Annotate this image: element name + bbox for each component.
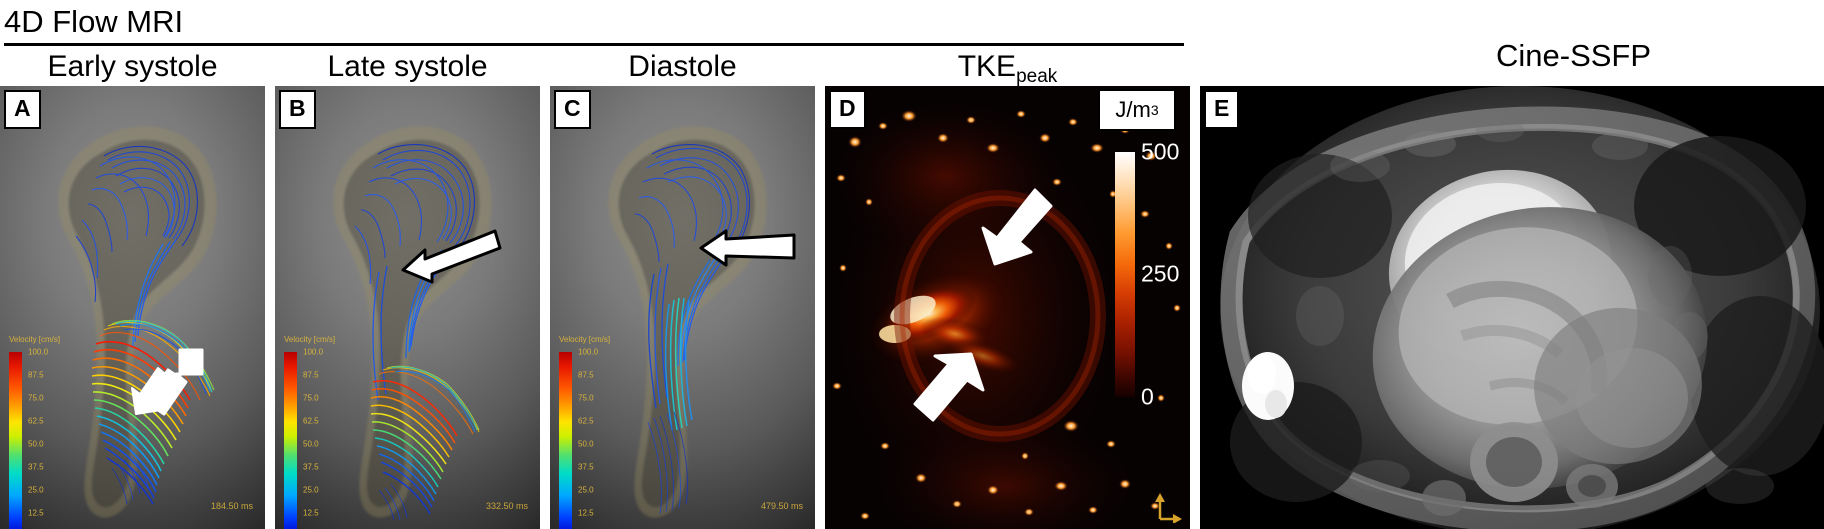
- panel-d-tke-peak[interactable]: J/m3 500 250 0 D: [825, 86, 1190, 529]
- panel-title-diastole-text: Diastole: [628, 50, 736, 83]
- panel-title-early-systole-text: Early systole: [47, 50, 217, 83]
- panel-title-late-systole: Late systole: [275, 50, 540, 84]
- panel-title-tke-text: TKE: [958, 50, 1016, 83]
- panel-letter-c: C: [554, 90, 591, 129]
- cine-ssfp-image: [1200, 86, 1824, 529]
- velocity-tick-100-a: 100.0: [28, 348, 48, 357]
- annotation-arrow-white-filled-d-lower: [905, 348, 993, 438]
- orientation-arrow-icon: [1148, 487, 1184, 523]
- panel-c-diastole[interactable]: Velocity [cm/s] 100.0 87.5 75.0 62.5 50.…: [550, 86, 815, 529]
- timestamp-a: 184.50 ms: [211, 501, 253, 511]
- velocity-tick-12-5-b: 12.5: [303, 509, 319, 518]
- panel-a-early-systole[interactable]: Velocity [cm/s] 100.0 87.5 75.0 62.5 50.…: [0, 86, 265, 529]
- panel-title-tke-subscript: peak: [1016, 66, 1057, 87]
- group-title-cine-ssfp: Cine-SSFP: [1496, 38, 1651, 74]
- tke-tick-0: 0: [1141, 384, 1154, 411]
- velocity-tick-37-5-b: 37.5: [303, 463, 319, 472]
- velocity-colorbar-gradient-c: [559, 352, 572, 529]
- velocity-colorbar-title-c: Velocity [cm/s]: [559, 335, 610, 344]
- velocity-tick-62-5-b: 62.5: [303, 417, 319, 426]
- velocity-tick-75-c: 75.0: [578, 394, 594, 403]
- panel-letter-a: A: [4, 90, 41, 129]
- panel-e-cine-ssfp[interactable]: E: [1200, 86, 1824, 529]
- velocity-tick-100-c: 100.0: [578, 348, 598, 357]
- velocity-colorbar-title-b: Velocity [cm/s]: [284, 335, 335, 344]
- annotation-arrow-outline-c: [698, 226, 798, 271]
- panel-b-late-systole[interactable]: Velocity [cm/s] 100.0 87.5 75.0 62.5 50.…: [275, 86, 540, 529]
- velocity-tick-62-5-c: 62.5: [578, 417, 594, 426]
- velocity-tick-50-a: 50.0: [28, 440, 44, 449]
- velocity-colorbar-gradient-b: [284, 352, 297, 529]
- velocity-tick-50-b: 50.0: [303, 440, 319, 449]
- velocity-tick-25-c: 25.0: [578, 486, 594, 495]
- velocity-tick-50-c: 50.0: [578, 440, 594, 449]
- velocity-tick-87-5-c: 87.5: [578, 371, 594, 380]
- velocity-tick-25-b: 25.0: [303, 486, 319, 495]
- velocity-tick-25-a: 25.0: [28, 486, 44, 495]
- velocity-colorbar-gradient-a: [9, 352, 22, 529]
- tke-tick-250: 250: [1141, 261, 1179, 288]
- group-title-underline: [4, 43, 1184, 46]
- timestamp-c: 479.50 ms: [761, 501, 803, 511]
- timestamp-b: 332.50 ms: [486, 501, 528, 511]
- annotation-arrow-white-filled-d-upper: [975, 186, 1053, 268]
- annotation-arrow-outline-b: [399, 226, 504, 286]
- panel-title-early-systole: Early systole: [0, 50, 265, 84]
- velocity-tick-75-b: 75.0: [303, 394, 319, 403]
- velocity-tick-62-5-a: 62.5: [28, 417, 44, 426]
- velocity-tick-100-b: 100.0: [303, 348, 323, 357]
- panel-title-diastole: Diastole: [550, 50, 815, 84]
- tke-colorbar-unit-exponent: 3: [1151, 102, 1159, 118]
- velocity-tick-75-a: 75.0: [28, 394, 44, 403]
- tke-tick-500: 500: [1141, 139, 1179, 166]
- velocity-tick-87-5-a: 87.5: [28, 371, 44, 380]
- velocity-tick-87-5-b: 87.5: [303, 371, 319, 380]
- tke-map-image: [825, 86, 1190, 529]
- tke-colorbar-unit-box: J/m3: [1098, 89, 1176, 131]
- tke-colorbar-gradient: [1115, 152, 1135, 397]
- panel-letter-e: E: [1204, 90, 1239, 129]
- panel-title-late-systole-text: Late systole: [327, 50, 487, 83]
- group-title-4d-flow-mri: 4D Flow MRI: [4, 4, 183, 40]
- panel-letter-b: B: [279, 90, 316, 129]
- figure-root: 4D Flow MRI Cine-SSFP Early systole Late…: [0, 0, 1824, 529]
- panel-title-tke-peak: TKEpeak: [825, 50, 1190, 84]
- velocity-tick-37-5-c: 37.5: [578, 463, 594, 472]
- velocity-tick-37-5-a: 37.5: [28, 463, 44, 472]
- annotation-arrow-white-filled-a: [128, 344, 208, 419]
- velocity-tick-12-5-a: 12.5: [28, 509, 44, 518]
- velocity-tick-12-5-c: 12.5: [578, 509, 594, 518]
- panel-letter-d: D: [829, 90, 866, 129]
- velocity-colorbar-title-a: Velocity [cm/s]: [9, 335, 60, 344]
- tke-colorbar-unit-label: J/m: [1115, 97, 1150, 123]
